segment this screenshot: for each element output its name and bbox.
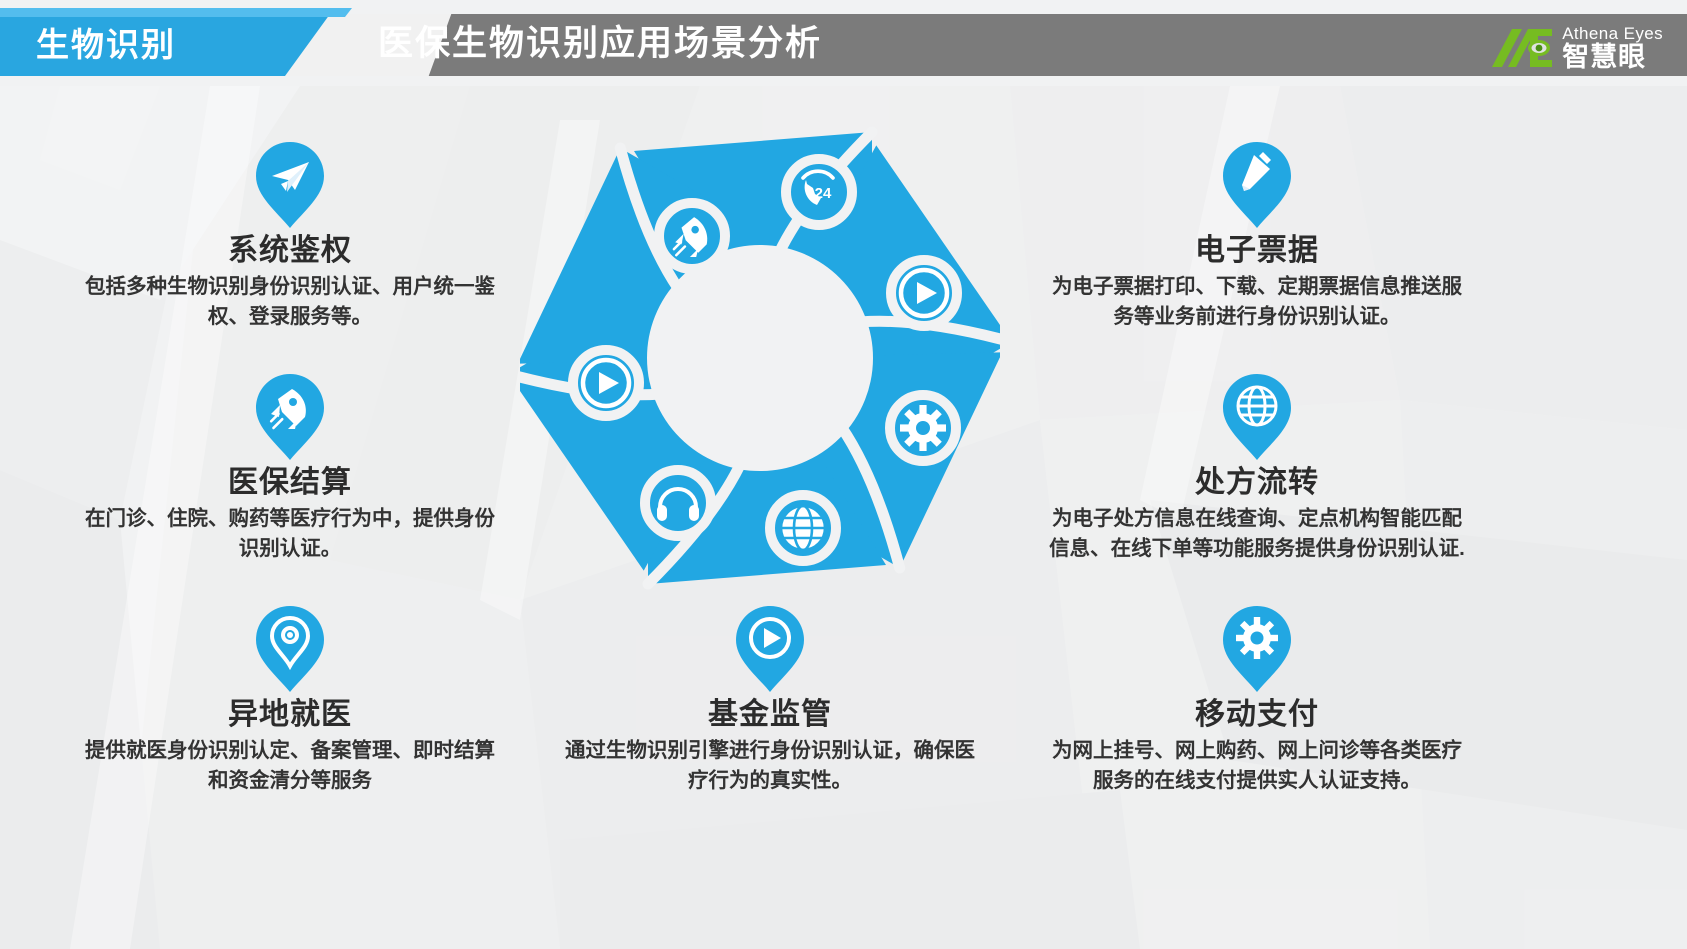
feature-title: 移动支付 xyxy=(1027,696,1487,734)
feature-title: 基金监管 xyxy=(540,696,1000,734)
globe-icon xyxy=(770,495,836,561)
feature-title: 系统鉴权 xyxy=(60,232,520,270)
play-circle-icon xyxy=(733,604,807,694)
logo-english-name: Athena Eyes xyxy=(1562,25,1663,43)
page-header: 生物识别 医保生物识别应用场景分析 xyxy=(0,0,1687,86)
feature-block-sysauth: 系统鉴权 包括多种生物识别身份识别认证、用户统一鉴权、登录服务等。 xyxy=(60,140,520,332)
logo-wordmark: Athena Eyes 智慧眼 xyxy=(1562,25,1663,71)
play-circle-icon xyxy=(891,260,957,326)
location-pin-icon xyxy=(253,604,327,694)
brand-logo: Athena Eyes 智慧眼 xyxy=(1486,22,1663,74)
feature-description: 通过生物识别引擎进行身份识别认证，确保医疗行为的真实性。 xyxy=(540,736,1000,796)
header-category-tag: 生物识别 xyxy=(36,14,176,76)
gear-icon xyxy=(1220,604,1294,694)
feature-block-prescription-flow: 处方流转 为电子处方信息在线查询、定点机构智能匹配信息、在线下单等功能服务提供身… xyxy=(1027,372,1487,564)
feature-title: 处方流转 xyxy=(1027,464,1487,502)
svg-text:24: 24 xyxy=(815,185,832,202)
page-title: 医保生物识别应用场景分析 xyxy=(378,14,822,76)
pencil-icon xyxy=(1220,140,1294,230)
feature-block-mobile-payment: 移动支付 为网上挂号、网上购药、网上问诊等各类医疗服务的在线支付提供实人认证支持… xyxy=(1027,604,1487,796)
phone-24h-icon: 24 xyxy=(786,159,852,225)
gear-icon xyxy=(890,395,956,461)
play-circle-icon-left xyxy=(573,350,639,416)
logo-chinese-name: 智慧眼 xyxy=(1562,43,1663,71)
feature-block-fund-supervision: 基金监管 通过生物识别引擎进行身份识别认证，确保医疗行为的真实性。 xyxy=(540,604,1000,796)
feature-description: 为网上挂号、网上购药、网上问诊等各类医疗服务的在线支付提供实人认证支持。 xyxy=(1027,736,1487,796)
feature-description: 包括多种生物识别身份识别认证、用户统一鉴权、登录服务等。 xyxy=(60,272,520,332)
feature-description: 提供就医身份识别认定、备案管理、即时结算和资金清分等服务 xyxy=(60,736,520,796)
feature-block-e-invoice: 电子票据 为电子票据打印、下载、定期票据信息推送服务等业务前进行身份识别认证。 xyxy=(1027,140,1487,332)
feature-title: 医保结算 xyxy=(60,464,520,502)
feature-block-remote-care: 异地就医 提供就医身份识别认定、备案管理、即时结算和资金清分等服务 xyxy=(60,604,520,796)
hexagon-pinwheel-diagram: 24 xyxy=(520,118,1000,598)
feature-title: 电子票据 xyxy=(1027,232,1487,270)
feature-description: 为电子票据打印、下载、定期票据信息推送服务等业务前进行身份识别认证。 xyxy=(1027,272,1487,332)
paper-plane-icon xyxy=(253,140,327,230)
globe-icon xyxy=(1220,372,1294,462)
rocket-icon xyxy=(253,372,327,462)
feature-description: 为电子处方信息在线查询、定点机构智能匹配信息、在线下单等功能服务提供身份识别认证… xyxy=(1027,504,1487,564)
feature-description: 在门诊、住院、购药等医疗行为中，提供身份识别认证。 xyxy=(60,504,520,564)
rocket-icon xyxy=(659,203,725,269)
feature-block-settlement: 医保结算 在门诊、住院、购药等医疗行为中，提供身份识别认证。 xyxy=(60,372,520,564)
headphones-icon xyxy=(645,470,711,536)
feature-title: 异地就医 xyxy=(60,696,520,734)
ae-logo-icon xyxy=(1486,27,1554,69)
